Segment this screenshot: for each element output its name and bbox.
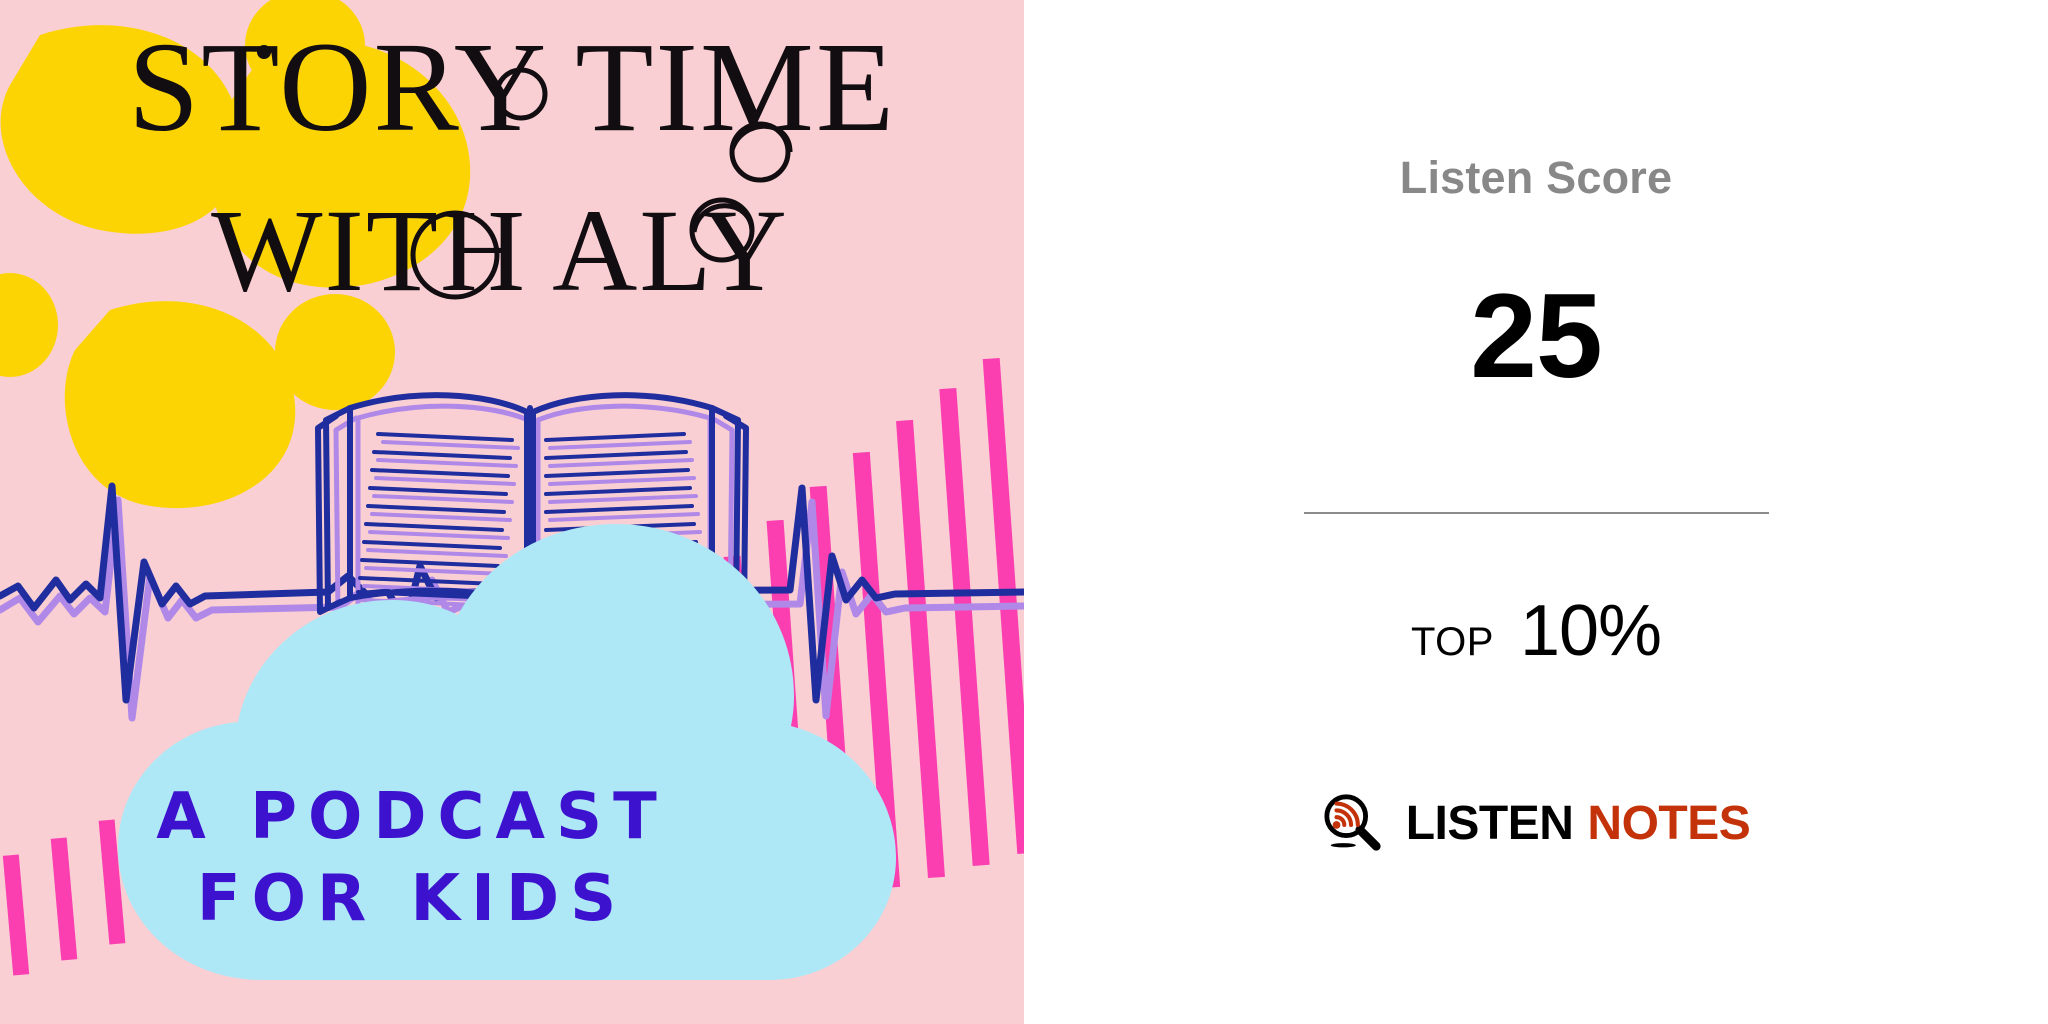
listen-notes-magnifier-rss-icon: [1322, 792, 1384, 854]
listen-score-panel: Listen Score 25 TOP 10% LISTENNO: [1024, 0, 2048, 1024]
listen-notes-wordmark: LISTENNOTES: [1406, 796, 1751, 851]
listen-score-title: Listen Score: [1024, 152, 2048, 204]
score-divider: [1304, 512, 1769, 514]
cover-tagline-line1: A PODCAST: [156, 780, 668, 854]
podcast-cover-art[interactable]: STORY TIME WITH ALY A PODCAST FOR KIDS: [0, 0, 1024, 1024]
wordmark-listen: LISTEN: [1406, 797, 1574, 850]
rank-label: TOP: [1411, 620, 1494, 665]
listen-score-widget: STORY TIME WITH ALY A PODCAST FOR KIDS: [0, 0, 2048, 1024]
cover-artwork: STORY TIME WITH ALY A PODCAST FOR KIDS: [0, 0, 1024, 1024]
listen-score-rank: TOP 10%: [1024, 590, 2048, 672]
cover-tagline-line2: FOR KIDS: [197, 862, 627, 936]
rank-value: 10%: [1520, 590, 1661, 672]
wordmark-notes: NOTES: [1587, 797, 1750, 850]
listen-score-value: 25: [1024, 276, 2048, 396]
listen-notes-logo[interactable]: LISTENNOTES: [1024, 792, 2048, 854]
